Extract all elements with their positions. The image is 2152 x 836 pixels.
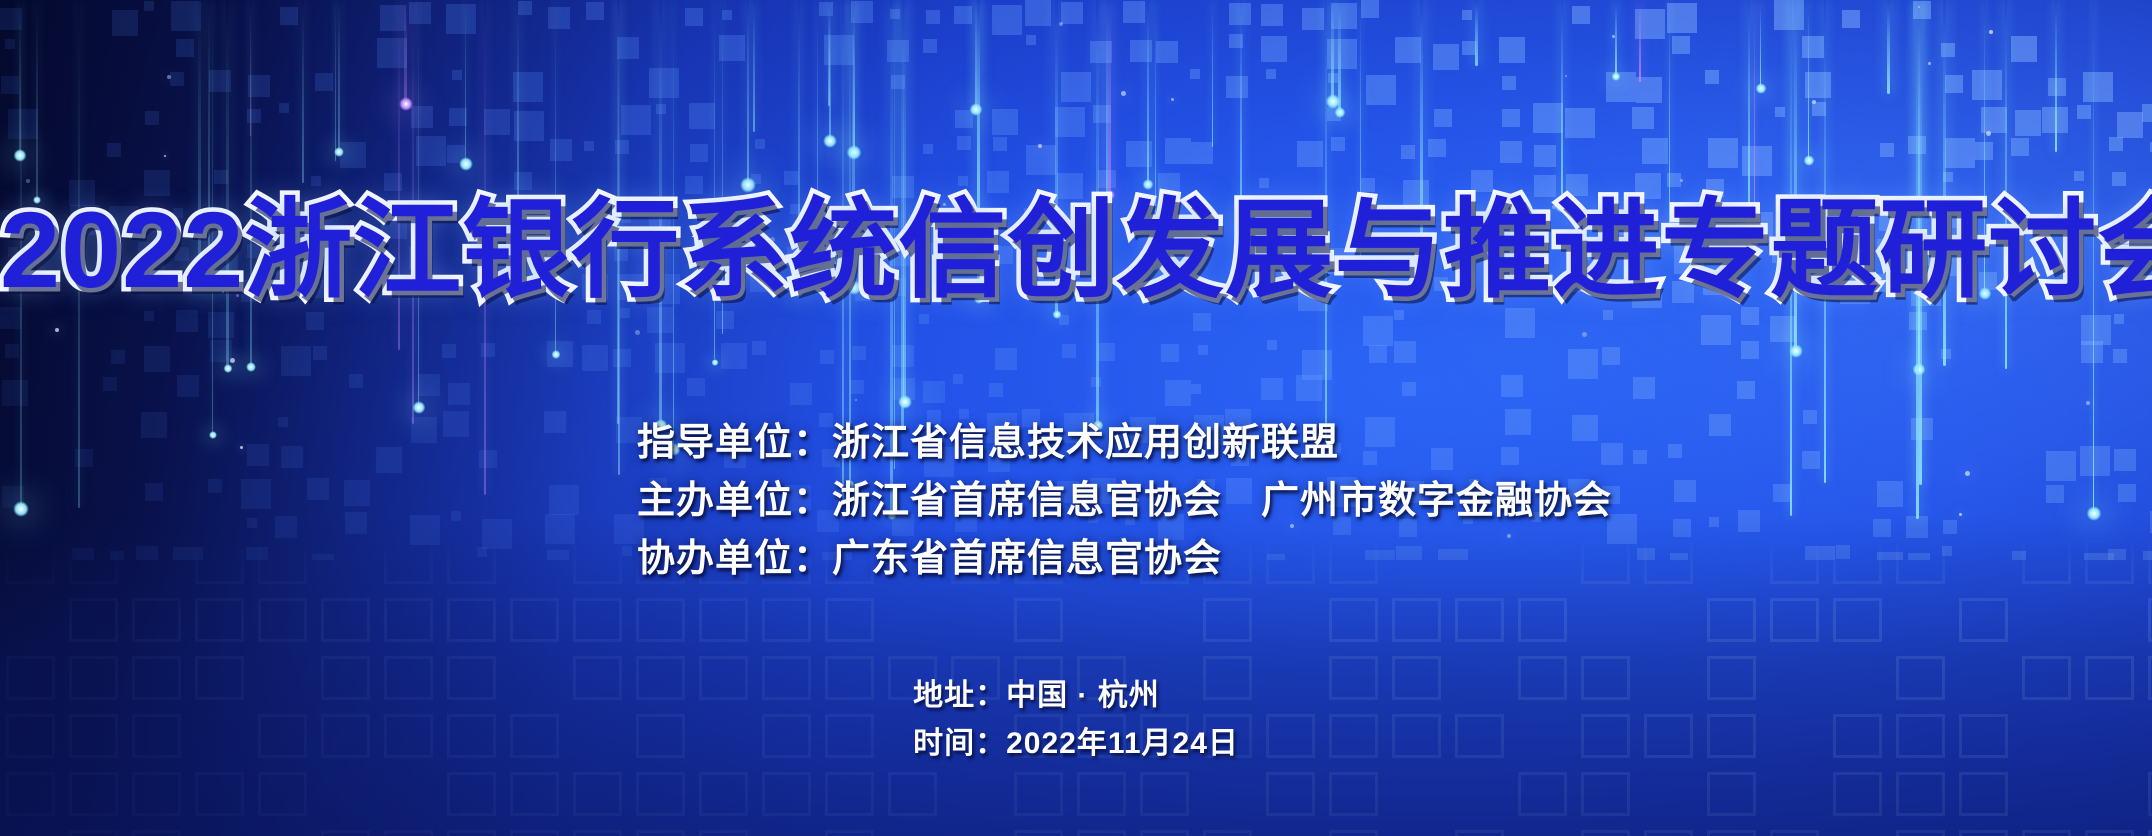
event-location: 地址：中国 · 杭州 xyxy=(913,672,1239,720)
organizer-line-guidance: 指导单位：浙江省信息技术应用创新联盟 xyxy=(637,414,1612,472)
event-meta-block: 地址：中国 · 杭州 时间：2022年11月24日 xyxy=(0,672,2152,768)
event-date: 时间：2022年11月24日 xyxy=(913,720,1239,768)
event-meta-inner: 地址：中国 · 杭州 时间：2022年11月24日 xyxy=(913,672,1239,768)
organizer-block: 指导单位：浙江省信息技术应用创新联盟 主办单位：浙江省首席信息官协会 广州市数字… xyxy=(637,414,1612,588)
organizer-line-cohost: 协办单位：广东省首席信息官协会 xyxy=(637,530,1612,588)
organizer-line-host: 主办单位：浙江省首席信息官协会 广州市数字金融协会 xyxy=(637,472,1612,530)
poster-title-text: 2022浙江银行系统信创发展与推进专题研讨会 xyxy=(0,196,2152,304)
poster-title: 2022浙江银行系统信创发展与推进专题研讨会 xyxy=(0,196,2152,304)
poster-banner: 2022浙江银行系统信创发展与推进专题研讨会 指导单位：浙江省信息技术应用创新联… xyxy=(0,0,2152,836)
